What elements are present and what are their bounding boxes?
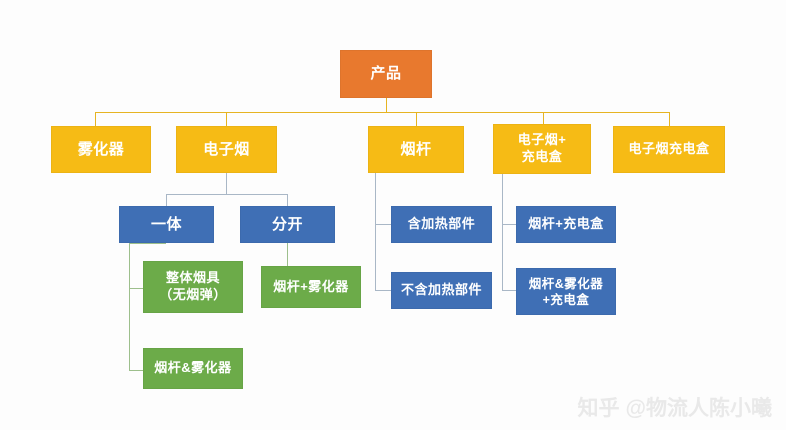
connector-drop-wuhuaqi bbox=[95, 112, 96, 126]
node-ecig-plus-charging-case[interactable]: 电子烟+ 充电盒 bbox=[493, 124, 591, 174]
connector-drop-dianziyan-chongdianhe bbox=[543, 112, 544, 124]
connector-yiti-top-stub bbox=[129, 243, 166, 244]
node-separated[interactable]: 分开 bbox=[240, 206, 335, 243]
node-stick-atomizer-plus-charging-case[interactable]: 烟杆&雾化器 +充电盒 bbox=[516, 268, 616, 315]
node-stick-and-atomizer[interactable]: 烟杆&雾化器 bbox=[143, 348, 243, 389]
node-ecig-charging-case[interactable]: 电子烟充电盒 bbox=[613, 126, 725, 173]
connector-yiti-to-zhengti bbox=[129, 288, 143, 289]
node-root-product[interactable]: 产品 bbox=[340, 50, 432, 98]
node-integrated[interactable]: 一体 bbox=[119, 206, 214, 243]
node-atomizer[interactable]: 雾化器 bbox=[51, 126, 151, 173]
connector-dianziyan-bus bbox=[166, 194, 287, 195]
connector-dianziyanhe-spine bbox=[502, 173, 503, 290]
connector-dianziyan-stem bbox=[226, 173, 227, 194]
connector-drop-yangan bbox=[416, 112, 417, 126]
connector-root-bus bbox=[95, 112, 669, 113]
node-stick-plus-charging-case[interactable]: 烟杆+充电盒 bbox=[516, 206, 616, 243]
watermark-brand: 知乎 bbox=[578, 392, 620, 422]
node-without-heating-element[interactable]: 不含加热部件 bbox=[391, 272, 492, 309]
connector-yangan-to-buhan bbox=[375, 290, 391, 291]
watermark: 知乎 @物流人陈小曦 bbox=[578, 392, 772, 422]
node-whole-device-no-pod[interactable]: 整体烟具 （无烟弹） bbox=[143, 261, 243, 313]
connector-root-stem bbox=[386, 98, 387, 112]
connector-drop-dianziyan bbox=[226, 112, 227, 126]
connector-dianziyanhe-to-yangan-wuhuaqi-he bbox=[502, 290, 516, 291]
connector-dianziyanhe-to-yangan-he bbox=[502, 224, 516, 225]
node-stick-plus-atomizer[interactable]: 烟杆+雾化器 bbox=[261, 266, 361, 308]
connector-drop-chongdianhe bbox=[669, 112, 670, 126]
watermark-handle: @物流人陈小曦 bbox=[626, 392, 772, 422]
connector-drop-fenkai bbox=[287, 194, 288, 206]
connector-drop-yiti bbox=[166, 194, 167, 206]
node-with-heating-element[interactable]: 含加热部件 bbox=[391, 206, 492, 243]
node-ecigarette[interactable]: 电子烟 bbox=[176, 126, 277, 173]
connector-yangan-to-han bbox=[375, 224, 391, 225]
node-vape-stick[interactable]: 烟杆 bbox=[368, 126, 464, 173]
connector-yiti-to-yangan-wuhuaqi bbox=[129, 370, 143, 371]
connector-yangan-spine bbox=[375, 173, 376, 290]
diagram-canvas: 产品 雾化器 电子烟 烟杆 电子烟+ 充电盒 电子烟充电盒 一体 分开 含加热部… bbox=[0, 0, 786, 430]
connector-yiti-spine bbox=[129, 243, 130, 370]
